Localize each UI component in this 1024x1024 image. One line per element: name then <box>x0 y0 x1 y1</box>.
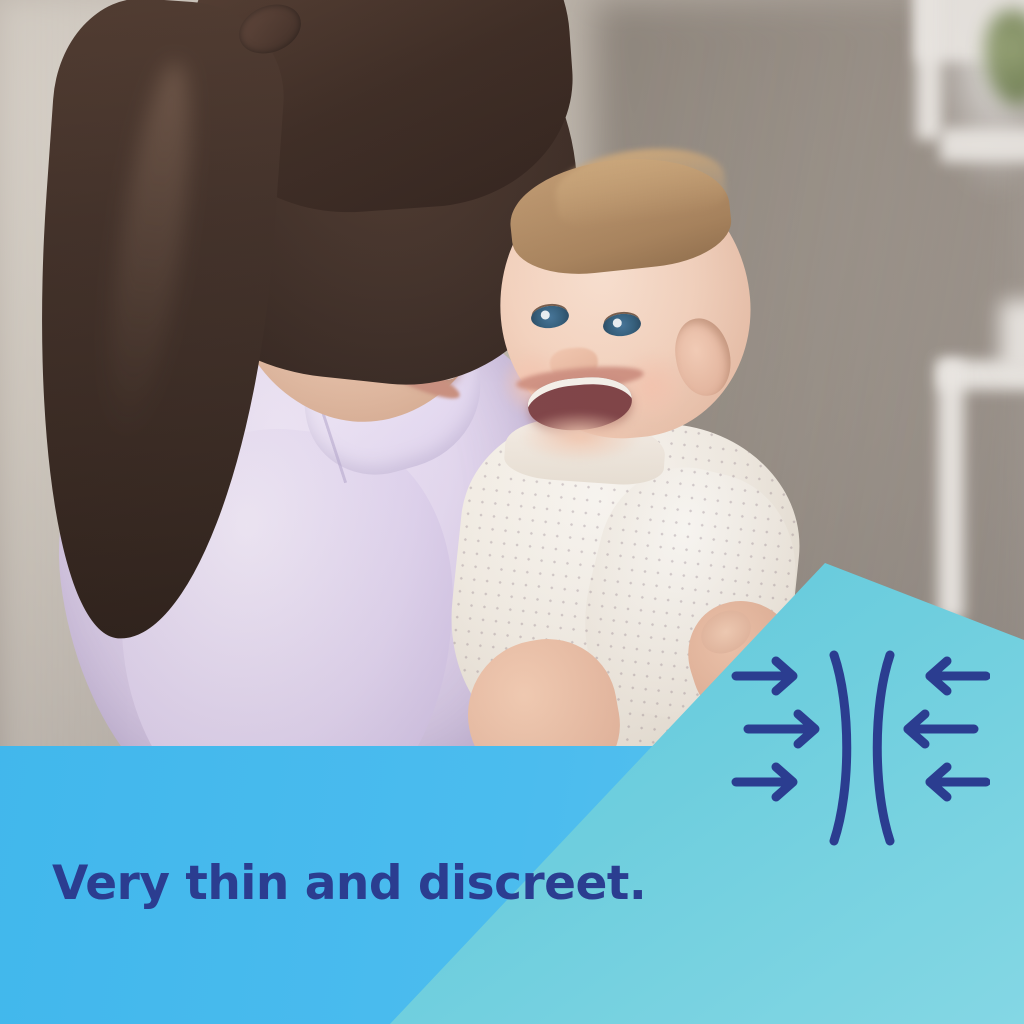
eye-highlight <box>540 310 550 320</box>
bracket-right <box>877 655 890 841</box>
arrows-left-group <box>736 661 815 797</box>
shelf-lower-side <box>938 360 964 620</box>
arrows-right-group <box>908 661 986 797</box>
shelf-object <box>1000 300 1024 374</box>
ad-creative: Very thin and discreet. <box>0 0 1024 1024</box>
eye-highlight <box>612 318 622 328</box>
shelf-upper-side <box>916 0 942 140</box>
compression-thinness-icon <box>730 645 990 855</box>
baby-chin <box>520 412 640 462</box>
bracket-left <box>834 655 847 841</box>
shelf-upper-ledge <box>940 128 1024 162</box>
headline-text: Very thin and discreet. <box>52 858 646 910</box>
